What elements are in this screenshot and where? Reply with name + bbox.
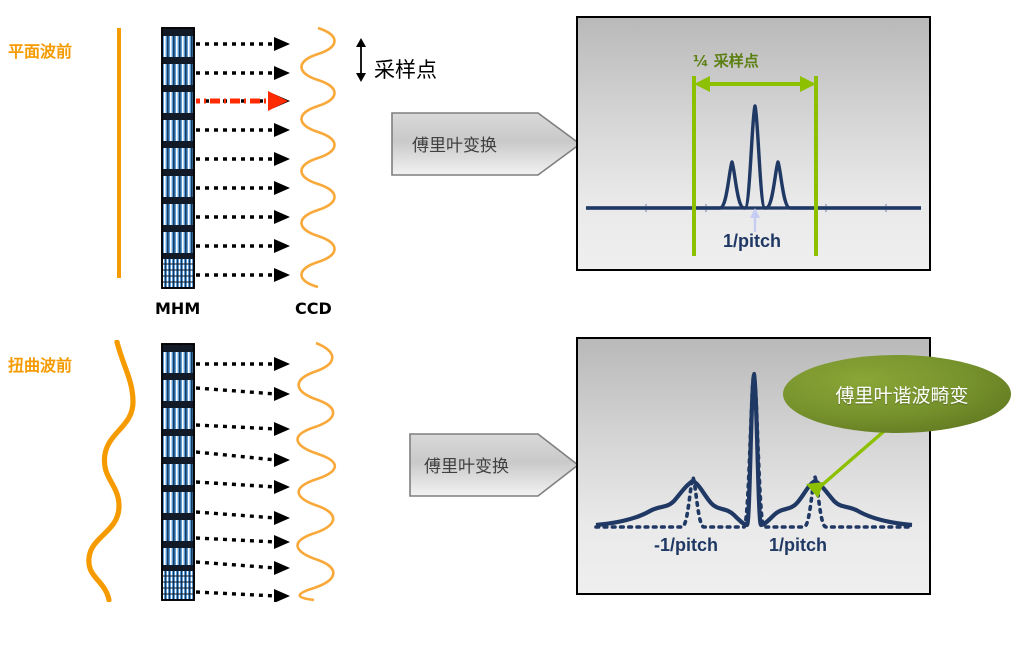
ccd-fringe-pattern-distorted (288, 340, 350, 602)
negative-order-label-distorted: -1/pitch (654, 535, 718, 556)
fourier-transform-label-planar: 傅里叶变换 (412, 131, 497, 156)
fourier-transform-arrow-distorted: 傅里叶变换 (408, 432, 580, 498)
fourier-transform-arrow-planar: 傅里叶变换 (390, 111, 582, 177)
diagram-canvas: 平面波前 (0, 0, 1019, 659)
harmonic-distortion-callout: 傅里叶谐波畸变 (782, 354, 1012, 434)
mhm-grating-planar (161, 27, 195, 289)
positive-order-label-distorted: 1/pitch (769, 535, 827, 556)
bracket-span-label-planar: ¼ 采样点 (693, 50, 759, 71)
planar-wavefront-line (117, 28, 121, 278)
harmonic-distortion-callout-label: 傅里叶谐波畸变 (782, 354, 1012, 434)
distorted-wavefront-curve (75, 340, 155, 602)
ccd-fringe-pattern-planar (288, 25, 350, 290)
planar-wavefront-label: 平面波前 (8, 38, 72, 62)
ray-arrows-planar (196, 25, 296, 290)
mhm-caption: MHM (155, 299, 200, 318)
ccd-caption: CCD (295, 299, 332, 318)
sampling-point-label: 采样点 (374, 54, 437, 84)
center-order-label-planar: 1/pitch (723, 231, 781, 252)
ray-arrows-distorted (196, 340, 296, 602)
sampling-point-arrow (350, 36, 372, 84)
distorted-wavefront-label: 扭曲波前 (8, 352, 72, 376)
mhm-grating-distorted (161, 343, 195, 601)
fourier-transform-label-distorted: 傅里叶变换 (424, 452, 509, 477)
spectrum-panel-planar: ¼ 采样点 1/pitch (576, 16, 931, 271)
